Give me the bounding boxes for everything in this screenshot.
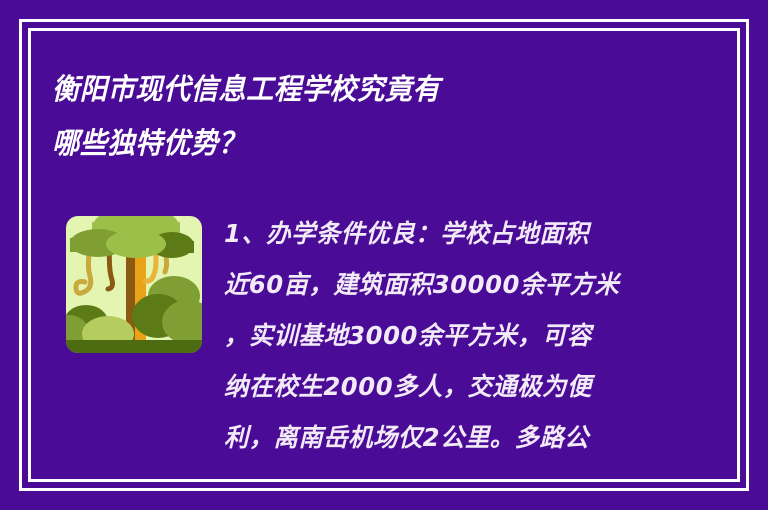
body-line-4: 纳在校生2000多人，交通极为便	[224, 361, 680, 412]
body-line-2: 近60亩，建筑面积30000余平方米	[224, 259, 680, 310]
tree-illustration	[62, 212, 206, 357]
poster-canvas: 衡阳市现代信息工程学校究竟有 哪些独特优势？	[0, 0, 768, 510]
headline-line-1: 衡阳市现代信息工程学校究竟有	[52, 62, 635, 116]
ground-strip	[62, 340, 206, 357]
headline-line-2: 哪些独特优势？	[52, 116, 635, 170]
tree-illustration-svg	[62, 212, 206, 357]
body-line-3: ，实训基地3000余平方米，可容	[224, 310, 680, 361]
body-line-1: 1、办学条件优良：学校占地面积	[224, 208, 680, 259]
body-line-5: 利，离南岳机场仅2公里。多路公	[224, 412, 680, 463]
body-copy-block: 1、办学条件优良：学校占地面积 近60亩，建筑面积30000余平方米 ，实训基地…	[224, 208, 694, 463]
canopy-center-lower	[106, 230, 166, 258]
headline-block: 衡阳市现代信息工程学校究竟有 哪些独特优势？	[52, 62, 672, 170]
